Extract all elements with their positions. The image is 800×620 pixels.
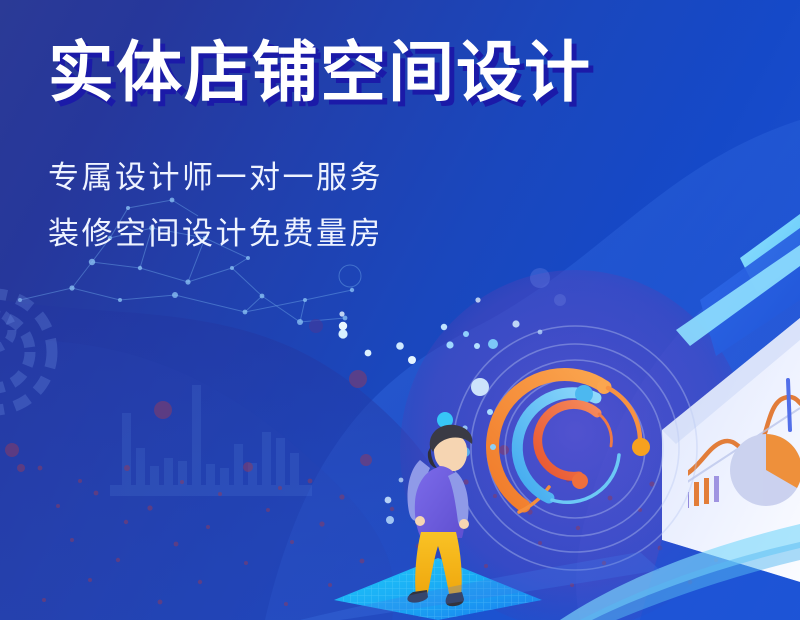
promo-banner: 实体店铺空间设计 专属设计师一对一服务 装修空间设计免费量房: [0, 0, 800, 620]
headline-block: 实体店铺空间设计 专属设计师一对一服务 装修空间设计免费量房: [48, 36, 592, 249]
subtitle-line-2: 装修空间设计免费量房: [48, 218, 592, 249]
page-title: 实体店铺空间设计: [48, 36, 592, 110]
subtitle-line-1: 专属设计师一对一服务: [48, 162, 592, 193]
